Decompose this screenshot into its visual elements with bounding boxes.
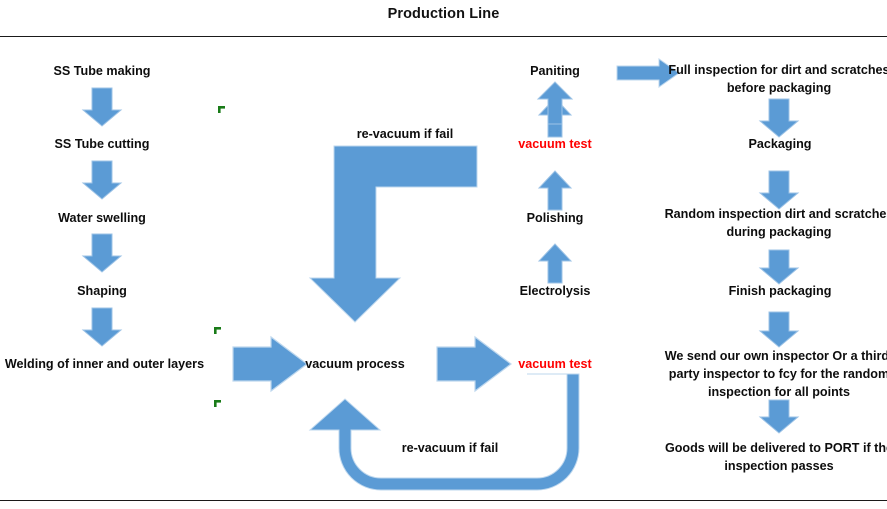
node-vacuum-process[interactable]: vacuum process xyxy=(290,356,420,374)
flowchart-canvas: Production Line xyxy=(0,0,887,509)
up-arrow-test-to-electrolysis xyxy=(539,244,571,283)
node-ss-tube-making[interactable]: SS Tube making xyxy=(12,63,192,81)
down-arrow-swelling-to-shaping xyxy=(83,234,121,272)
footer-divider xyxy=(0,500,887,501)
node-electrolysis[interactable]: Electrolysis xyxy=(495,283,615,301)
node-polishing[interactable]: Polishing xyxy=(495,210,615,228)
down-arrow-packaging-to-random xyxy=(760,171,798,209)
up-arrow-electrolysis-to-polishing xyxy=(539,171,571,210)
page-title: Production Line xyxy=(0,6,887,22)
green-corner-mark-3 xyxy=(214,400,221,407)
node-goods-delivered[interactable]: Goods will be delivered to PORT if the i… xyxy=(655,440,887,476)
green-corner-mark-1 xyxy=(218,106,225,113)
green-corner-mark-2 xyxy=(214,327,221,334)
node-full-inspection[interactable]: Full inspection for dirt and scratches b… xyxy=(655,62,887,98)
bent-arrow-top-re-vacuum xyxy=(310,146,477,322)
node-shaping[interactable]: Shaping xyxy=(12,283,192,301)
node-random-inspection[interactable]: Random inspection dirt and scratches dur… xyxy=(655,206,887,242)
up-arrow-polishing-to-test xyxy=(539,98,571,137)
down-arrow-shaping-to-welding xyxy=(83,308,121,346)
down-arrow-random-to-finish xyxy=(760,250,798,284)
label-re-vacuum-bottom: re-vacuum if fail xyxy=(345,440,555,458)
u-loop-arrow-bottom-re-vacuum xyxy=(310,374,579,490)
down-arrow-finish-to-thirdparty xyxy=(760,312,798,347)
down-arrow-inspection-to-packaging xyxy=(760,99,798,137)
down-arrow-cutting-to-swelling xyxy=(83,161,121,199)
node-vacuum-test-upper[interactable]: vacuum test xyxy=(495,136,615,154)
node-vacuum-test-lower[interactable]: vacuum test xyxy=(495,356,615,374)
node-water-swelling[interactable]: Water swelling xyxy=(12,210,192,228)
node-finish-packaging[interactable]: Finish packaging xyxy=(690,283,870,301)
down-arrow-thirdparty-to-goods xyxy=(760,400,798,433)
node-welding[interactable]: Welding of inner and outer layers xyxy=(2,356,207,374)
node-third-party-inspection[interactable]: We send our own inspector Or a third- pa… xyxy=(655,348,887,402)
node-packaging[interactable]: Packaging xyxy=(690,136,870,154)
label-re-vacuum-top: re-vacuum if fail xyxy=(300,126,510,144)
up-arrow-test-to-paniting xyxy=(538,82,572,124)
down-arrow-making-to-cutting xyxy=(83,88,121,126)
node-ss-tube-cutting[interactable]: SS Tube cutting xyxy=(12,136,192,154)
node-paniting[interactable]: Paniting xyxy=(495,63,615,81)
header-divider xyxy=(0,36,887,37)
